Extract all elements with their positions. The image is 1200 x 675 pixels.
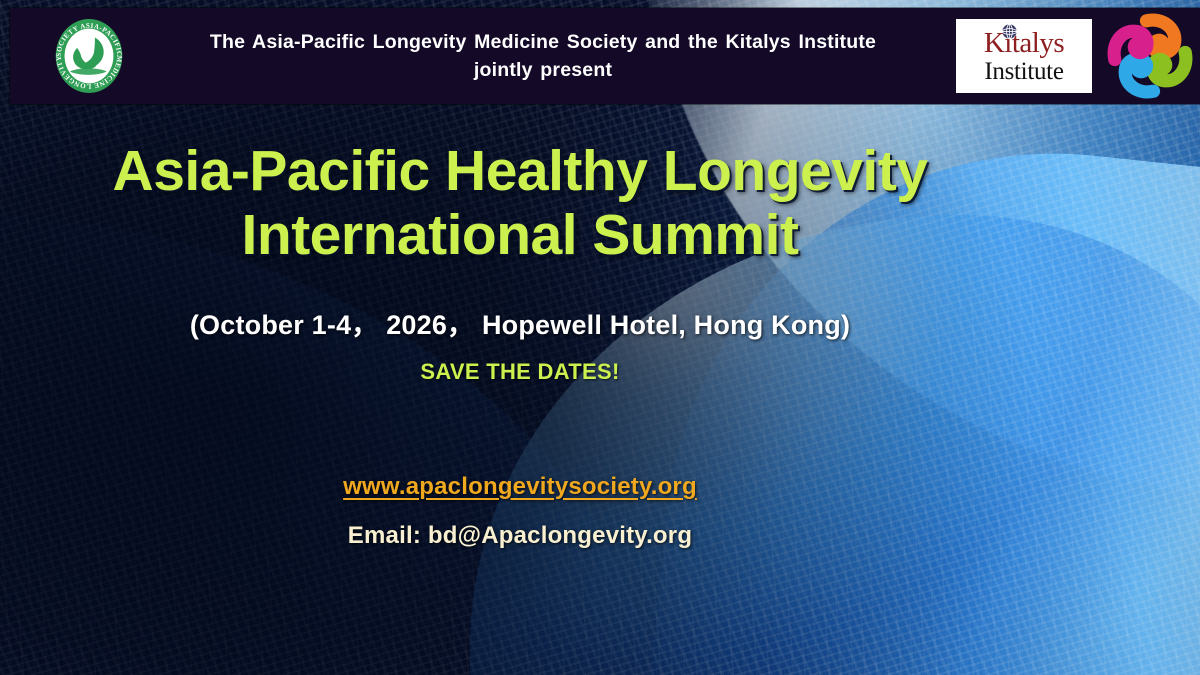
globe-icon (1001, 17, 1018, 34)
presenter-text: The Asia-Pacific Longevity Medicine Soci… (126, 28, 956, 85)
website-link[interactable]: www.apaclongevitysociety.org (343, 473, 697, 501)
pinwheel-flower-logo-icon (1106, 12, 1194, 100)
presenter-text-line1: The Asia-Pacific Longevity Medicine Soci… (210, 31, 876, 53)
email-line[interactable]: Email: bd@Apaclongevity.org (0, 522, 1040, 550)
contact-block: www.apaclongevitysociety.org Email: bd@A… (0, 473, 1040, 550)
kitalys-word: Kitalys (984, 27, 1064, 59)
header-banner: SOCIETY ASIA-PACIFIC MEDICINE LONGEVITY … (10, 8, 1200, 104)
kitalys-institute-logo-icon: Kitalys Institute (956, 19, 1092, 93)
event-details: (October 1-4， 2026， Hopewell Hotel, Hong… (0, 303, 1040, 342)
save-the-dates-callout: SAVE THE DATES! (0, 359, 1040, 385)
event-announcement-slide: SOCIETY ASIA-PACIFIC MEDICINE LONGEVITY … (0, 0, 1200, 675)
page-title: Asia-Pacific Healthy Longevity Internati… (0, 140, 1040, 268)
main-content: Asia-Pacific Healthy Longevity Internati… (0, 104, 1040, 550)
kitalys-wordmark: Kitalys (984, 29, 1064, 58)
apac-society-seal-icon: SOCIETY ASIA-PACIFIC MEDICINE LONGEVITY (52, 15, 126, 97)
institute-word: Institute (984, 59, 1063, 84)
title-line-2: International Summit (0, 204, 1040, 268)
title-line-1: Asia-Pacific Healthy Longevity (113, 139, 928, 203)
presenter-text-line2: jointly present (474, 59, 612, 81)
